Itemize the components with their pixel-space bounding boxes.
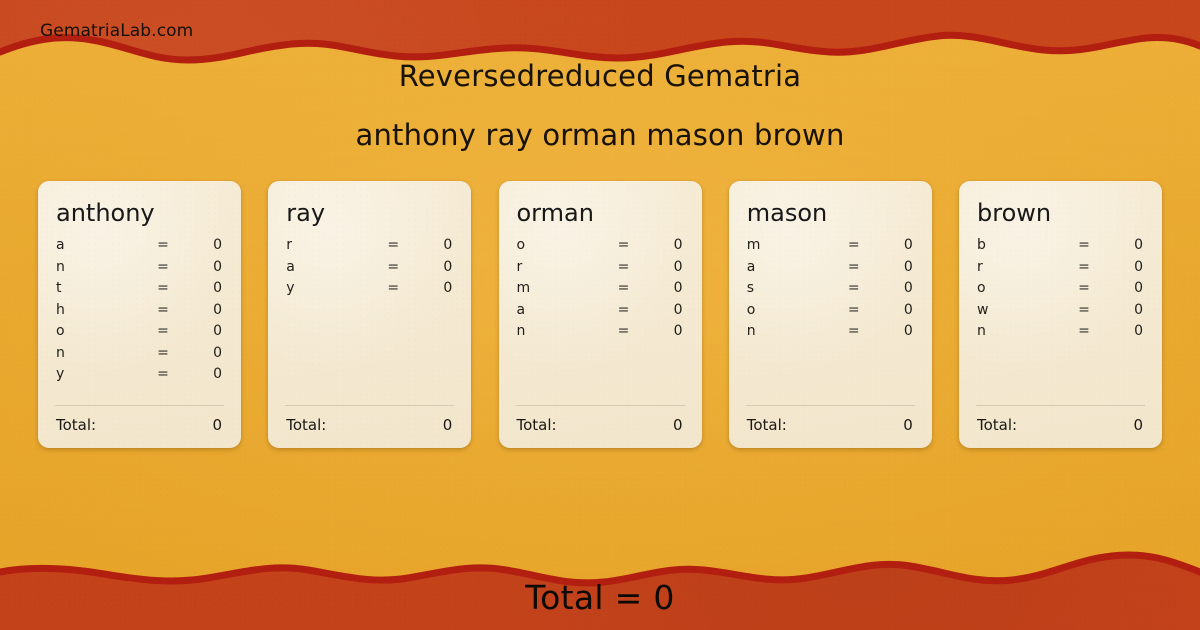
letter-value: 0: [647, 302, 686, 318]
letter-value: 0: [416, 280, 455, 296]
word-card-title: anthony: [56, 199, 225, 227]
letter-value: 0: [877, 259, 916, 275]
letter-label: h: [54, 302, 140, 318]
letter-value: 0: [186, 302, 225, 318]
equals-sign: =: [140, 237, 186, 253]
equals-sign: =: [831, 280, 877, 296]
word-card-title: orman: [517, 199, 686, 227]
letter-label: o: [54, 323, 140, 339]
letter-row: w=0: [975, 302, 1146, 324]
letter-value: 0: [647, 237, 686, 253]
letter-value: 0: [1107, 237, 1146, 253]
letter-value: 0: [1107, 302, 1146, 318]
equals-sign: =: [370, 259, 416, 275]
word-card-title: mason: [747, 199, 916, 227]
letter-value: 0: [416, 259, 455, 275]
card-divider: [976, 405, 1145, 406]
card-total-label: Total:: [975, 416, 1017, 434]
equals-sign: =: [601, 323, 647, 339]
letter-row: r=0: [284, 237, 455, 259]
letter-value: 0: [1107, 259, 1146, 275]
letter-row: s=0: [745, 280, 916, 302]
letter-value: 0: [1107, 280, 1146, 296]
word-card: ormano=0r=0m=0a=0n=0Total:0: [499, 181, 702, 448]
equals-sign: =: [831, 259, 877, 275]
letter-value: 0: [877, 323, 916, 339]
letter-label: n: [54, 259, 140, 275]
equals-sign: =: [831, 237, 877, 253]
word-card: masonm=0a=0s=0o=0n=0Total:0: [729, 181, 932, 448]
letter-value: 0: [186, 237, 225, 253]
card-total-value: 0: [787, 416, 916, 434]
letter-row: n=0: [975, 323, 1146, 345]
letter-row: n=0: [54, 259, 225, 281]
letter-label: n: [975, 323, 1061, 339]
letter-label: m: [745, 237, 831, 253]
letter-value-list: a=0n=0t=0h=0o=0n=0y=0: [54, 237, 225, 405]
card-divider: [285, 405, 454, 406]
card-total-value: 0: [1017, 416, 1146, 434]
letter-row: m=0: [515, 280, 686, 302]
site-watermark: GematriaLab.com: [40, 21, 193, 41]
letter-value: 0: [877, 280, 916, 296]
letter-label: r: [284, 237, 370, 253]
equals-sign: =: [370, 280, 416, 296]
letter-value: 0: [877, 237, 916, 253]
title-block: Reversedreduced Gematria anthony ray orm…: [0, 58, 1200, 153]
letter-row: n=0: [54, 345, 225, 367]
word-card-title: ray: [286, 199, 455, 227]
letter-label: a: [515, 302, 601, 318]
letter-row: a=0: [745, 259, 916, 281]
letter-value: 0: [1107, 323, 1146, 339]
card-divider: [516, 405, 685, 406]
letter-label: a: [284, 259, 370, 275]
letter-row: o=0: [745, 302, 916, 324]
letter-value-list: m=0a=0s=0o=0n=0: [745, 237, 916, 405]
letter-label: n: [515, 323, 601, 339]
equals-sign: =: [1061, 237, 1107, 253]
letter-row: a=0: [515, 302, 686, 324]
letter-value: 0: [186, 366, 225, 382]
equals-sign: =: [601, 280, 647, 296]
equals-sign: =: [140, 259, 186, 275]
word-card: anthonya=0n=0t=0h=0o=0n=0y=0Total:0: [38, 181, 241, 448]
phrase-title: anthony ray orman mason brown: [0, 117, 1200, 153]
letter-row: n=0: [745, 323, 916, 345]
card-total-label: Total:: [515, 416, 557, 434]
letter-label: r: [975, 259, 1061, 275]
card-total-row: Total:0: [284, 416, 455, 434]
equals-sign: =: [370, 237, 416, 253]
letter-label: b: [975, 237, 1061, 253]
letter-value: 0: [416, 237, 455, 253]
equals-sign: =: [140, 302, 186, 318]
equals-sign: =: [601, 302, 647, 318]
letter-label: m: [515, 280, 601, 296]
letter-row: a=0: [284, 259, 455, 281]
letter-row: t=0: [54, 280, 225, 302]
card-total-label: Total:: [284, 416, 326, 434]
letter-row: o=0: [54, 323, 225, 345]
letter-value: 0: [647, 259, 686, 275]
equals-sign: =: [831, 323, 877, 339]
card-total-label: Total:: [54, 416, 96, 434]
letter-label: o: [975, 280, 1061, 296]
card-total-value: 0: [96, 416, 225, 434]
equals-sign: =: [1061, 280, 1107, 296]
letter-label: w: [975, 302, 1061, 318]
letter-value: 0: [186, 280, 225, 296]
word-card: brownb=0r=0o=0w=0n=0Total:0: [959, 181, 1162, 448]
letter-row: a=0: [54, 237, 225, 259]
letter-label: s: [745, 280, 831, 296]
letter-value-list: r=0a=0y=0: [284, 237, 455, 405]
card-divider: [55, 405, 224, 406]
word-card-row: anthonya=0n=0t=0h=0o=0n=0y=0Total:0rayr=…: [38, 181, 1162, 448]
letter-value: 0: [877, 302, 916, 318]
letter-label: a: [745, 259, 831, 275]
letter-row: h=0: [54, 302, 225, 324]
equals-sign: =: [140, 345, 186, 361]
card-total-label: Total:: [745, 416, 787, 434]
letter-value-list: b=0r=0o=0w=0n=0: [975, 237, 1146, 405]
gematria-poster: GematriaLab.com Reversedreduced Gematria…: [0, 0, 1200, 630]
letter-label: o: [515, 237, 601, 253]
word-card: rayr=0a=0y=0Total:0: [268, 181, 471, 448]
letter-row: y=0: [284, 280, 455, 302]
grand-total: Total = 0: [0, 578, 1200, 618]
equals-sign: =: [601, 237, 647, 253]
card-total-value: 0: [326, 416, 455, 434]
card-total-row: Total:0: [745, 416, 916, 434]
card-total-row: Total:0: [54, 416, 225, 434]
letter-row: b=0: [975, 237, 1146, 259]
equals-sign: =: [140, 323, 186, 339]
card-total-value: 0: [557, 416, 686, 434]
letter-label: a: [54, 237, 140, 253]
card-divider: [746, 405, 915, 406]
letter-value-list: o=0r=0m=0a=0n=0: [515, 237, 686, 405]
equals-sign: =: [140, 366, 186, 382]
equals-sign: =: [601, 259, 647, 275]
letter-value: 0: [186, 323, 225, 339]
letter-label: t: [54, 280, 140, 296]
letter-label: o: [745, 302, 831, 318]
letter-label: y: [284, 280, 370, 296]
letter-value: 0: [186, 345, 225, 361]
equals-sign: =: [1061, 323, 1107, 339]
card-total-row: Total:0: [515, 416, 686, 434]
letter-label: n: [54, 345, 140, 361]
letter-value: 0: [647, 323, 686, 339]
cipher-title: Reversedreduced Gematria: [0, 58, 1200, 94]
letter-row: r=0: [975, 259, 1146, 281]
letter-row: o=0: [515, 237, 686, 259]
equals-sign: =: [1061, 259, 1107, 275]
equals-sign: =: [140, 280, 186, 296]
card-total-row: Total:0: [975, 416, 1146, 434]
letter-label: r: [515, 259, 601, 275]
equals-sign: =: [831, 302, 877, 318]
letter-value: 0: [186, 259, 225, 275]
letter-label: n: [745, 323, 831, 339]
letter-label: y: [54, 366, 140, 382]
letter-row: r=0: [515, 259, 686, 281]
equals-sign: =: [1061, 302, 1107, 318]
letter-row: o=0: [975, 280, 1146, 302]
word-card-title: brown: [977, 199, 1146, 227]
letter-row: m=0: [745, 237, 916, 259]
letter-row: y=0: [54, 366, 225, 388]
letter-value: 0: [647, 280, 686, 296]
letter-row: n=0: [515, 323, 686, 345]
